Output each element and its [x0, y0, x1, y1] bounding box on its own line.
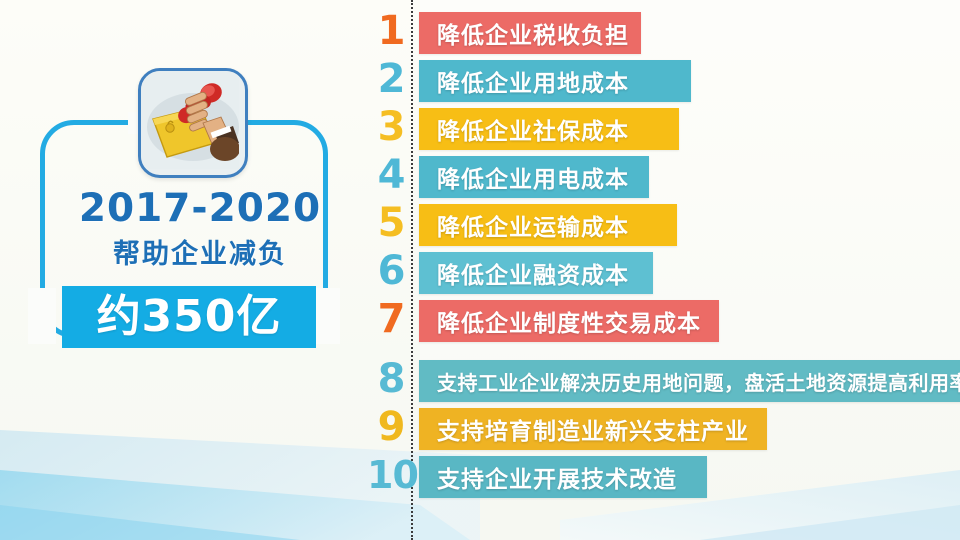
list-item-number: 2 [375, 56, 407, 102]
summary-panel: 2017-2020 帮助企业减负 约350亿 [0, 0, 400, 540]
list-item-number: 7 [375, 296, 407, 342]
list-item-number: 9 [375, 404, 407, 450]
list-item-number: 4 [375, 152, 407, 198]
list-item-bar[interactable]: 降低企业制度性交易成本 [419, 300, 719, 342]
amount-value: 约350亿 [97, 295, 282, 339]
list-item-bar[interactable]: 降低企业税收负担 [419, 12, 641, 54]
list-item-label: 降低企业融资成本 [437, 256, 629, 290]
list-item-label: 支持工业企业解决历史用地问题，盘活土地资源提高利用率 [437, 367, 960, 396]
list-item-bar[interactable]: 支持培育制造业新兴支柱产业 [419, 408, 767, 450]
list-item[interactable]: 5降低企业运输成本 [375, 202, 960, 248]
list-item-number: 3 [375, 104, 407, 150]
list-item-label: 降低企业制度性交易成本 [437, 304, 701, 338]
panel-subtitle: 帮助企业减负 [0, 232, 400, 271]
list-item-label: 降低企业税收负担 [437, 16, 629, 50]
list-item-label: 降低企业运输成本 [437, 208, 629, 242]
list-item-number: 10 [367, 452, 411, 498]
amount-badge: 约350亿 [62, 286, 316, 348]
list-item[interactable]: 9支持培育制造业新兴支柱产业 [375, 406, 960, 452]
list-item-label: 支持企业开展技术改造 [437, 460, 677, 494]
list-item-number: 8 [375, 356, 407, 402]
list-item-label: 降低企业社保成本 [437, 112, 629, 146]
list-item-label: 支持培育制造业新兴支柱产业 [437, 412, 749, 446]
list-item-bar[interactable]: 降低企业融资成本 [419, 252, 653, 294]
year-range: 2017-2020 [0, 186, 400, 231]
list-item-bar[interactable]: 支持工业企业解决历史用地问题，盘活土地资源提高利用率 [419, 360, 960, 402]
list-item[interactable]: 1降低企业税收负担 [375, 10, 960, 56]
list-item[interactable]: 3降低企业社保成本 [375, 106, 960, 152]
list-item[interactable]: 8支持工业企业解决历史用地问题，盘活土地资源提高利用率 [375, 358, 960, 404]
list-item-bar[interactable]: 降低企业社保成本 [419, 108, 679, 150]
list-item-number: 6 [375, 248, 407, 294]
frame-notch-left [28, 288, 56, 344]
list-item[interactable]: 4降低企业用电成本 [375, 154, 960, 200]
list-item-label: 降低企业用电成本 [437, 160, 629, 194]
list-item[interactable]: 6降低企业融资成本 [375, 250, 960, 296]
list-item[interactable]: 2降低企业用地成本 [375, 58, 960, 104]
list-item-number: 1 [375, 8, 407, 54]
measures-list: 1降低企业税收负担2降低企业用地成本3降低企业社保成本4降低企业用电成本5降低企… [375, 0, 960, 540]
gavel-briefcase-icon [138, 68, 248, 178]
list-item-number: 5 [375, 200, 407, 246]
list-item-bar[interactable]: 降低企业用电成本 [419, 156, 649, 198]
list-item[interactable]: 7降低企业制度性交易成本 [375, 298, 960, 344]
list-item-bar[interactable]: 支持企业开展技术改造 [419, 456, 707, 498]
infographic-poster: 2017-2020 帮助企业减负 约350亿 1降低企业税收负担2降低企业用地成… [0, 0, 960, 540]
list-item-bar[interactable]: 降低企业运输成本 [419, 204, 677, 246]
list-item[interactable]: 10支持企业开展技术改造 [375, 454, 960, 500]
list-item-bar[interactable]: 降低企业用地成本 [419, 60, 691, 102]
list-item-label: 降低企业用地成本 [437, 64, 629, 98]
